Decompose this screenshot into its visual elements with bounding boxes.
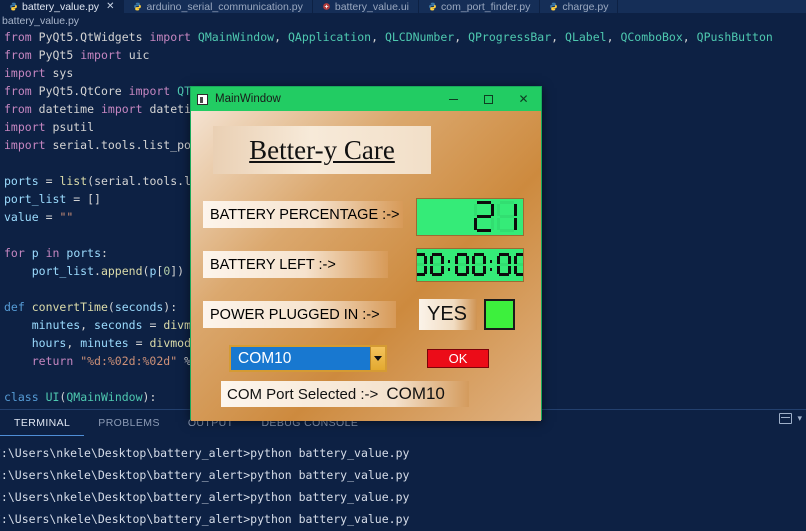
battery-left-label: BATTERY LEFT :->	[203, 251, 388, 278]
lcd-colon	[489, 253, 494, 277]
editor-tab-label: charge.py	[562, 1, 608, 13]
panel-tab-label: PROBLEMS	[98, 417, 160, 429]
window-app-icon	[197, 94, 208, 105]
panel-actions: ▾	[779, 413, 802, 424]
editor-tab-label: battery_value.py	[22, 1, 99, 13]
com-port-combobox[interactable]: COM10	[229, 345, 387, 372]
python-file-icon	[133, 2, 142, 11]
chevron-down-icon[interactable]	[370, 347, 385, 370]
breadcrumb-label: battery_value.py	[2, 15, 79, 27]
python-file-icon	[9, 2, 18, 11]
terminal-line: C:\Users\nkele\Desktop\battery_alert>pyt…	[0, 442, 806, 464]
com-port-selected-text: COM10	[231, 350, 370, 368]
lcd-digit	[455, 253, 469, 277]
editor-tab-bar: battery_value.py ✕ arduino_serial_commun…	[0, 0, 806, 13]
page-title: Better-y Care	[249, 135, 395, 166]
editor-tab-arduino-serial-communication-py[interactable]: arduino_serial_communication.py	[124, 0, 312, 13]
power-status-indicator	[484, 299, 515, 330]
lcd-digit	[514, 253, 525, 277]
terminal-line: C:\Users\nkele\Desktop\battery_alert>pyt…	[0, 508, 806, 530]
editor-tab-label: arduino_serial_communication.py	[146, 1, 302, 13]
code-line: from PyQt5.QtWidgets import QMainWindow,…	[4, 28, 806, 46]
lcd-digit	[472, 253, 486, 277]
qt-designer-file-icon	[322, 2, 331, 11]
close-icon[interactable]: ✕	[106, 1, 114, 12]
close-icon[interactable]: ✕	[506, 87, 541, 111]
editor-tab-charge-py[interactable]: charge.py	[540, 0, 618, 13]
window-controls: ✕	[436, 87, 541, 111]
panel-tab-label: TERMINAL	[14, 417, 70, 429]
editor-tab-com-port-finder-py[interactable]: com_port_finder.py	[419, 0, 540, 13]
terminal-output[interactable]: C:\Users\nkele\Desktop\battery_alert>pyt…	[0, 436, 806, 530]
terminal-icon[interactable]	[779, 413, 792, 424]
com-port-status-label: COM Port Selected :->	[227, 386, 378, 403]
lcd-digit	[497, 253, 511, 277]
qt-window-title: MainWindow	[215, 93, 281, 105]
breadcrumb[interactable]: battery_value.py	[0, 13, 806, 28]
com-port-status: COM Port Selected :-> COM10	[221, 381, 469, 407]
minimize-icon[interactable]	[436, 87, 471, 111]
terminal-line: C:\Users\nkele\Desktop\battery_alert>pyt…	[0, 464, 806, 486]
qt-window-body: Better-y Care BATTERY PERCENTAGE :-> 21 …	[191, 111, 541, 421]
lcd-digit	[474, 201, 494, 233]
power-plugged-value: YES	[419, 299, 477, 330]
lcd-colon	[447, 253, 452, 277]
python-file-icon	[549, 2, 558, 11]
qt-main-window[interactable]: MainWindow ✕ Better-y Care BATTERY PERCE…	[190, 86, 542, 420]
com-port-status-value: COM10	[386, 384, 445, 404]
terminal-line: C:\Users\nkele\Desktop\battery_alert>pyt…	[0, 486, 806, 508]
lcd-seven-segment-digits	[416, 253, 524, 277]
code-line: from PyQt5 import uic	[4, 46, 806, 64]
power-plugged-label: POWER PLUGGED IN :->	[203, 301, 396, 328]
lcd-digit	[430, 253, 444, 277]
tab-problems[interactable]: PROBLEMS	[84, 410, 174, 436]
battery-percentage-lcd: 21	[416, 198, 524, 236]
editor-tab-label: com_port_finder.py	[441, 1, 530, 13]
editor-tab-label: battery_value.ui	[335, 1, 409, 13]
lcd-digit	[416, 253, 427, 277]
python-file-icon	[428, 2, 437, 11]
lcd-digit	[497, 201, 517, 233]
ok-button[interactable]: OK	[427, 349, 489, 368]
chevron-down-icon[interactable]: ▾	[797, 413, 802, 424]
code-line: import sys	[4, 64, 806, 82]
app-header-panel: Better-y Care	[213, 126, 431, 174]
maximize-icon[interactable]	[471, 87, 506, 111]
lcd-seven-segment-digits	[474, 201, 517, 233]
editor-tab-battery-value-py[interactable]: battery_value.py ✕	[0, 0, 124, 13]
battery-percentage-label: BATTERY PERCENTAGE :->	[203, 201, 403, 228]
bottom-panel: TERMINAL PROBLEMS OUTPUT DEBUG CONSOLE ▾…	[0, 409, 806, 531]
tab-terminal[interactable]: TERMINAL	[0, 410, 84, 436]
battery-left-lcd: 00:00:00	[416, 248, 524, 282]
editor-tab-battery-value-ui[interactable]: battery_value.ui	[313, 0, 419, 13]
qt-title-bar[interactable]: MainWindow ✕	[191, 87, 541, 111]
